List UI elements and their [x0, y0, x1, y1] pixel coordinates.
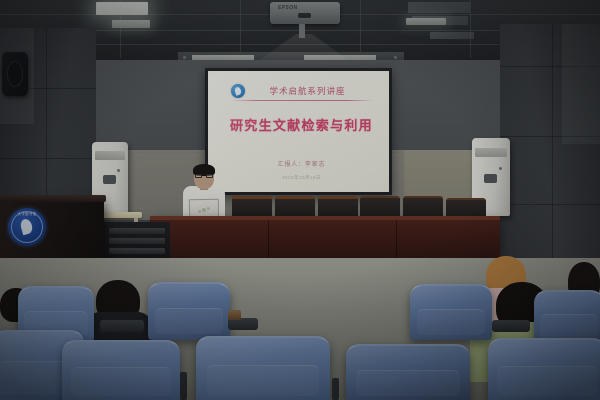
seat-a3: [410, 284, 492, 340]
seat-b2: [62, 340, 180, 400]
university-library-logo: [231, 84, 245, 98]
seat-leg-1: [180, 372, 187, 400]
right-wall: [500, 24, 600, 280]
seat-a2: [148, 282, 230, 340]
slide-divider: [231, 100, 373, 101]
ac-right-display: [484, 174, 497, 183]
projector-lens: [298, 13, 311, 18]
seat-b3: [196, 336, 330, 400]
ceiling-light-3: [406, 18, 446, 25]
seat-a4: [534, 290, 600, 344]
head-table: [150, 216, 500, 260]
slide-date: 2023年10月18日: [218, 175, 385, 181]
projector-mount: [299, 24, 305, 38]
presenter-glasses: [195, 174, 213, 178]
armrest-a3: [492, 320, 530, 332]
wall-speaker: [2, 52, 28, 96]
armrest-a1: [100, 320, 144, 332]
ceiling-projector: EPSON: [270, 2, 340, 24]
projector-brand-label: EPSON: [278, 5, 298, 11]
seat-b5: [488, 338, 600, 400]
slide-presenter: 汇报人：李家志: [218, 159, 385, 168]
seat-leg-2: [332, 378, 339, 400]
presentation-slide: 学术启航系列讲座 研究生文献检索与利用 汇报人：李家志 2023年10月18日: [208, 71, 389, 192]
emblem-text: 大学图书馆: [8, 211, 46, 216]
seat-b4: [346, 344, 470, 400]
ceiling-light-1: [96, 2, 148, 15]
speaker-cone: [7, 61, 23, 87]
slide-title: 研究生文献检索与利用: [218, 115, 385, 134]
ac-left-display: [103, 175, 116, 184]
slide-header-text: 学术启航系列讲座: [250, 85, 365, 97]
projection-screen: 学术启航系列讲座 研究生文献检索与利用 汇报人：李家志 2023年10月18日: [205, 68, 392, 195]
university-emblem: 大学图书馆: [8, 208, 46, 246]
ceiling-light-2: [112, 20, 150, 28]
armrest-pad-a2: [228, 310, 241, 320]
lecture-hall-photo: EPSON 学术启航系列讲座 研究生文献检索与利用: [0, 0, 600, 400]
